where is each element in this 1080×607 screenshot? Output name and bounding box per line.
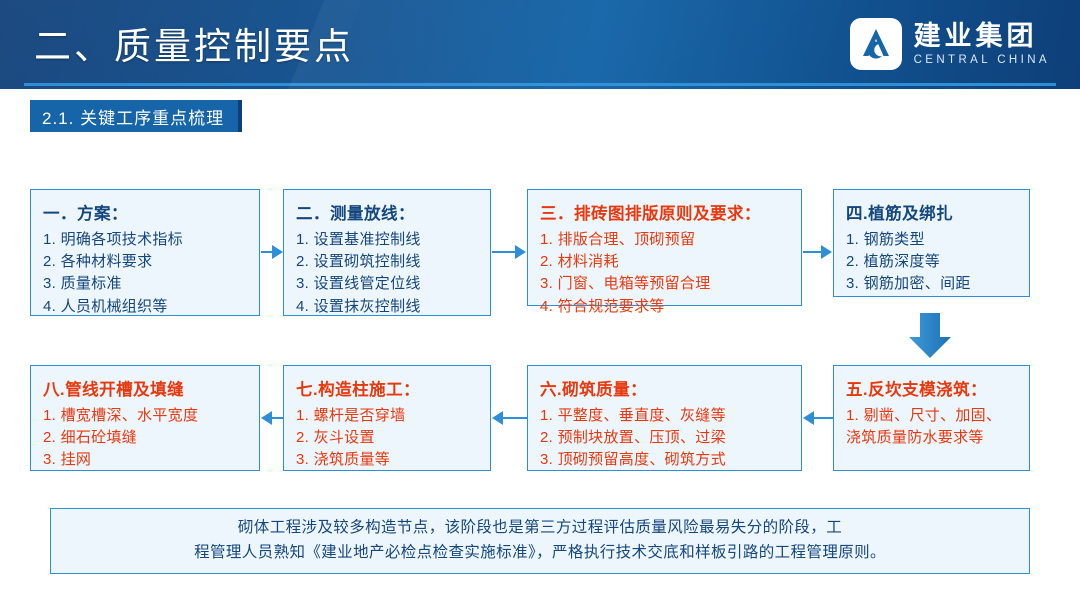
box-line: 2. 灰斗设置	[296, 427, 480, 449]
box-title: 六.砌筑质量：	[540, 376, 791, 400]
flow-box-scheme: 一．方案： 1. 明确各项技术指标 2. 各种材料要求 3. 质量标准 4. 人…	[30, 189, 260, 316]
header-underline	[24, 83, 1056, 86]
flow-box-rebar: 四.植筋及绑扎 1. 钢筋类型 2. 植筋深度等 3. 钢筋加密、间距	[833, 189, 1030, 297]
arrow-head-left-icon	[492, 411, 503, 425]
box-line: 2. 设置砌筑控制线	[296, 251, 480, 273]
arrow-line	[261, 251, 272, 253]
box-line: 1. 槽宽槽深、水平宽度	[43, 405, 249, 427]
box-line: 1. 螺杆是否穿墙	[296, 405, 480, 427]
box-title: 七.构造柱施工：	[296, 376, 480, 400]
box-line: 3. 门窗、电箱等预留合理	[540, 273, 791, 295]
footer-note: 砌体工程涉及较多构造节点，该阶段也是第三方过程评估质量风险最易失分的阶段，工 程…	[50, 508, 1030, 574]
box-line: 2. 各种材料要求	[43, 251, 249, 273]
flow-box-reverse-beam: 五.反坎支模浇筑： 1. 剔凿、尺寸、加固、 浇筑质量防水要求等	[833, 365, 1030, 471]
box-line: 4. 符合规范要求等	[540, 296, 791, 318]
box-line: 3. 挂网	[43, 449, 249, 471]
arrow-line	[272, 417, 283, 419]
box-line: 3. 顶砌预留高度、砌筑方式	[540, 449, 791, 471]
box-line: 1. 设置基准控制线	[296, 229, 480, 251]
section-tag: 2.1. 关键工序重点梳理	[30, 100, 242, 132]
arrow-head-right-icon	[272, 245, 283, 259]
flow-box-structural-column: 七.构造柱施工： 1. 螺杆是否穿墙 2. 灰斗设置 3. 浇筑质量等	[283, 365, 491, 471]
box-line: 1. 明确各项技术指标	[43, 229, 249, 251]
box-title: 二．测量放线：	[296, 200, 480, 224]
flow-box-masonry-quality: 六.砌筑质量： 1. 平整度、垂直度、灰缝等 2. 预制块放置、压顶、过梁 3.…	[527, 365, 802, 471]
box-line: 4. 人员机械组织等	[43, 296, 249, 318]
box-line: 2. 细石砼填缝	[43, 427, 249, 449]
box-title: 三．排砖图排版原则及要求：	[540, 200, 791, 224]
box-title: 四.植筋及绑扎	[846, 200, 1019, 224]
box-line: 2. 预制块放置、压顶、过梁	[540, 427, 791, 449]
box-line: 2. 材料消耗	[540, 251, 791, 273]
logo-text-cn: 建业集团	[914, 22, 1050, 50]
footer-note-line: 程管理人员熟知《建业地产必检点检查实施标准》，严格执行技术交底和样板引路的工程管…	[194, 541, 886, 566]
flow-box-pipe-groove: 八.管线开槽及填缝 1. 槽宽槽深、水平宽度 2. 细石砼填缝 3. 挂网	[30, 365, 260, 471]
arrow-line	[814, 417, 833, 419]
box-title: 五.反坎支模浇筑：	[846, 376, 1019, 400]
box-line: 3. 设置线管定位线	[296, 273, 480, 295]
page-title: 二、质量控制要点	[34, 16, 354, 70]
arrow-line	[803, 251, 821, 253]
box-line: 2. 植筋深度等	[846, 251, 1019, 273]
arrow-line	[492, 251, 515, 253]
box-line: 1. 钢筋类型	[846, 229, 1019, 251]
logo-text-en: CENTRAL CHINA	[914, 54, 1050, 66]
flow-box-survey: 二．测量放线： 1. 设置基准控制线 2. 设置砌筑控制线 3. 设置线管定位线…	[283, 189, 491, 316]
box-line: 1. 平整度、垂直度、灰缝等	[540, 405, 791, 427]
logo-mark-icon	[850, 18, 902, 70]
flow-box-brick-layout: 三．排砖图排版原则及要求： 1. 排版合理、顶砌预留 2. 材料消耗 3. 门窗…	[527, 189, 802, 306]
arrow-line	[503, 417, 527, 419]
arrow-head-left-icon	[261, 411, 272, 425]
box-title: 八.管线开槽及填缝	[43, 376, 249, 400]
arrow-down-thick-icon	[908, 313, 952, 359]
brand-logo: 建业集团 CENTRAL CHINA	[850, 18, 1050, 70]
box-line: 3. 浇筑质量等	[296, 449, 480, 471]
box-line: 1. 排版合理、顶砌预留	[540, 229, 791, 251]
page-header: 二、质量控制要点 建业集团 CENTRAL CHINA	[0, 0, 1080, 89]
box-line: 3. 钢筋加密、间距	[846, 273, 1019, 295]
arrow-head-left-icon	[803, 411, 814, 425]
footer-note-line: 砌体工程涉及较多构造节点，该阶段也是第三方过程评估质量风险最易失分的阶段，工	[238, 516, 842, 541]
box-line: 3. 质量标准	[43, 273, 249, 295]
arrow-head-right-icon	[515, 245, 526, 259]
box-title: 一．方案：	[43, 200, 249, 224]
arrow-head-right-icon	[821, 245, 832, 259]
box-line: 1. 剔凿、尺寸、加固、	[846, 405, 1019, 427]
box-line: 浇筑质量防水要求等	[846, 427, 1019, 449]
box-line: 4. 设置抹灰控制线	[296, 296, 480, 318]
